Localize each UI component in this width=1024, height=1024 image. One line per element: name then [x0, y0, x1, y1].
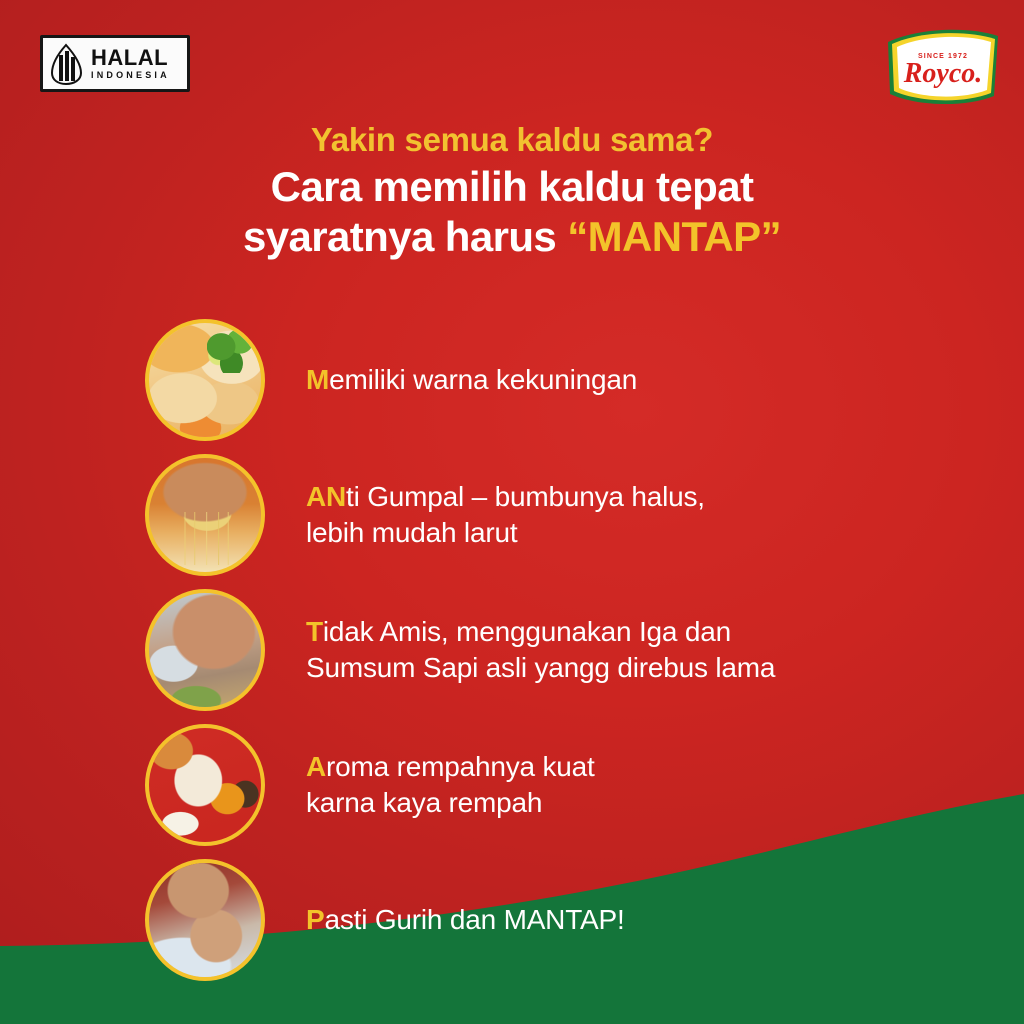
feature-body: emiliki warna kekuningan — [329, 364, 637, 395]
feature-initial: P — [306, 904, 324, 935]
headline-line-2-prefix: syaratnya harus — [243, 213, 567, 260]
feature-text: Pasti Gurih dan MANTAP! — [306, 902, 625, 938]
feature-item: Pasti Gurih dan MANTAP! — [145, 852, 985, 987]
feature-item: Tidak Amis, menggunakan Iga danSumsum Sa… — [145, 582, 985, 717]
headline-line-1: Cara memilih kaldu tepat — [0, 162, 1024, 212]
feature-text: Memiliki warna kekuningan — [306, 362, 637, 398]
feature-thumbnail-taste — [145, 859, 265, 981]
feature-body-line2: karna kaya rempah — [306, 787, 542, 818]
feature-thumbnail-smell — [145, 589, 265, 711]
feature-initial: A — [306, 751, 326, 782]
feature-text: Tidak Amis, menggunakan Iga danSumsum Sa… — [306, 614, 775, 686]
halal-badge-title: HALAL — [91, 47, 170, 69]
feature-body: asti Gurih dan MANTAP! — [324, 904, 624, 935]
feature-body: idak Amis, menggunakan Iga dan — [323, 616, 731, 647]
feature-thumbnail-spices — [145, 724, 265, 846]
hand-crumbling-seasoning-powder-photo — [149, 458, 261, 572]
royco-wordmark: Royco. — [903, 58, 983, 89]
feature-initial: M — [306, 364, 329, 395]
royco-logo: SINCE 1972 Royco. — [884, 24, 1002, 110]
spices-garlic-onion-turmeric-peppercorn-photo — [149, 728, 261, 842]
feature-text: Aroma rempahnya kuatkarna kaya rempah — [306, 749, 595, 821]
headline-line-2: syaratnya harus “MANTAP” — [0, 212, 1024, 262]
feature-item: ANti Gumpal – bumbunya halus,lebih mudah… — [145, 447, 985, 582]
chef-tasting-food-photo — [149, 863, 261, 977]
headline-block: Yakin semua kaldu sama? Cara memilih kal… — [0, 118, 1024, 262]
feature-list: Memiliki warna kekuningan ANti Gumpal – … — [145, 312, 985, 987]
feature-thumbnail-hand — [145, 454, 265, 576]
halal-indonesia-badge: HALAL INDONESIA — [40, 35, 190, 92]
poster-canvas: HALAL INDONESIA SINCE 1972 Royco. Yakin … — [0, 0, 1024, 1024]
feature-thumbnail-broth — [145, 319, 265, 441]
halal-mark-icon — [50, 43, 84, 85]
man-smelling-food-photo — [149, 593, 261, 707]
headline-mantap-highlight: “MANTAP” — [567, 213, 781, 260]
feature-item: Aroma rempahnya kuatkarna kaya rempah — [145, 717, 985, 852]
feature-body-line2: lebih mudah larut — [306, 517, 517, 548]
feature-body-line2: Sumsum Sapi asli yangg direbus lama — [306, 652, 775, 683]
feature-body: ti Gumpal – bumbunya halus, — [346, 481, 705, 512]
halal-badge-subtitle: INDONESIA — [91, 69, 170, 81]
feature-text: ANti Gumpal – bumbunya halus,lebih mudah… — [306, 479, 705, 551]
feature-body: roma rempahnya kuat — [326, 751, 595, 782]
feature-initial: AN — [306, 481, 346, 512]
broth-with-chicken-and-vegetables-photo — [149, 323, 261, 437]
feature-item: Memiliki warna kekuningan — [145, 312, 985, 447]
headline-kicker: Yakin semua kaldu sama? — [0, 118, 1024, 162]
feature-initial: T — [306, 616, 323, 647]
